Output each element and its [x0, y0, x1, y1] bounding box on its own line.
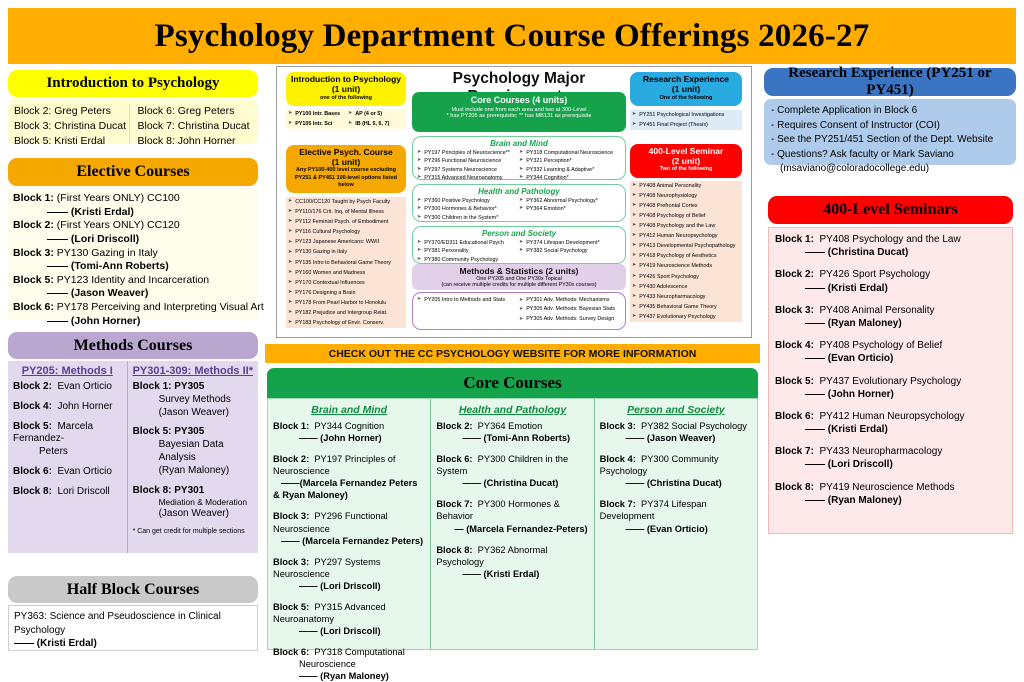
requirements-right-column: Research Experience (1 unit) One of the …: [630, 72, 742, 322]
instructor: —— (Lori Driscoll): [273, 625, 425, 637]
half-block-heading: Half Block Courses: [8, 576, 258, 603]
area-title: Person and Society: [417, 229, 621, 238]
bullet-arrow-icon: ➤: [417, 205, 421, 213]
block-label: Block 2:: [13, 381, 52, 392]
list-item: Block 7: Christina Ducat: [138, 119, 253, 134]
area-health-and-pathology: Health and Pathology ➤PY360 Positive Psy…: [412, 184, 626, 222]
list-item: ➤PY182 Prejudice and Intergroup Relat.: [286, 308, 406, 318]
page-title: Psychology Department Course Offerings 2…: [155, 18, 870, 55]
block-label: Block 5:: [13, 274, 54, 286]
course-name: PY408 Animal Personality: [819, 305, 934, 316]
instructor: —— (Jason Weaver): [13, 287, 253, 301]
list-item: ➤PY100 Intr. Bases: [286, 109, 346, 119]
box-note: Any PY100-400 level course excluding PY2…: [288, 167, 404, 188]
bullet-arrow-icon: ➤: [288, 309, 292, 317]
core-courses-heading: Core Courses: [267, 368, 758, 398]
instructor: —— (Lori Driscoll): [273, 580, 425, 592]
list-item: - Questions? Ask faculty or Mark Saviano: [771, 148, 1009, 163]
list-item: ➤PY408 Psychology of Belief: [630, 211, 742, 221]
list-item: Block 1: PY344 Cognition—— (John Horner): [273, 420, 425, 444]
course-name: PY363: Science and Pseudoscience in Clin…: [14, 610, 252, 637]
list-item: ➤PY360 Positive Psychology: [417, 197, 519, 205]
instructor: —— (Christina Ducat): [600, 477, 752, 489]
list-item: ➤IB (HL 5, 6, 7): [346, 119, 406, 129]
intro-column-left: Block 2: Greg Peters Block 3: Christina …: [14, 104, 129, 144]
block-label: Block 4:: [600, 454, 636, 464]
instructor: —— (Kristi Erdal): [436, 568, 588, 580]
list-item: ➤PY362 Abnormal Psychology*: [519, 197, 621, 205]
list-item: Block 4: PY408 Psychology of Belief—— (E…: [775, 339, 1006, 365]
list-item: ➤PY418 Psychology of Aesthetics: [630, 251, 742, 261]
bullet-arrow-icon: ➤: [519, 174, 523, 182]
bullet-arrow-icon: ➤: [632, 222, 636, 230]
list-item: ➤PY105 Intr. Sci: [286, 119, 346, 129]
list-item: Block 5: Marcela Fernandez-Peters: [13, 421, 122, 459]
instructor: —— (Kristi Erdal): [775, 282, 1006, 295]
box-units: (1 unit): [632, 85, 740, 95]
list-item: ➤PY130 Gazing in Italy: [286, 247, 406, 257]
bullet-arrow-icon: ➤: [417, 174, 421, 182]
list-item: ➤PY430 Adolescence: [630, 282, 742, 292]
list-item: ➤PY112 Feminist Psych. of Embodiment: [286, 217, 406, 227]
bullet-arrow-icon: ➤: [417, 157, 421, 165]
research-experience-body: - Complete Application in Block 6 - Requ…: [764, 99, 1016, 165]
bullet-arrow-icon: ➤: [632, 283, 636, 291]
bullet-arrow-icon: ➤: [632, 232, 636, 240]
methods-two-heading: PY301-309: Methods II*: [133, 365, 253, 377]
list-item: ➤PY419 Neuroscience Methods: [630, 261, 742, 271]
list-item: ➤PY116 Cultural Psychology: [286, 227, 406, 237]
research-requirement-box: Research Experience (1 unit) One of the …: [630, 72, 742, 106]
list-item: ➤PY435 Behavioral Game Theory: [630, 302, 742, 312]
bullet-arrow-icon: ➤: [519, 166, 523, 174]
area-person-and-society: Person and Society ➤PY370/ED311 Educatio…: [412, 226, 626, 264]
list-item: ➤PY123 Japanese Americans: WWII: [286, 237, 406, 247]
list-item: Block 1: PY305Survey Methods(Jason Weave…: [133, 381, 253, 419]
methods-panel-heading: Methods Courses: [8, 332, 258, 359]
block-label: Block 7:: [600, 499, 636, 509]
course-name: PY433 Neuropharmacology: [819, 446, 942, 457]
course-name: PY382 Social Psychology: [641, 421, 747, 431]
course-name: PY130 Gazing in Italy: [57, 247, 158, 259]
area-title: Brain and Mind: [417, 139, 621, 148]
half-block-body: PY363: Science and Pseudoscience in Clin…: [8, 605, 258, 651]
instructor: —— (Evan Orticio): [600, 523, 752, 535]
methods-footnote: * Can get credit for multiple sections: [133, 528, 253, 535]
box-note: Two of the following: [632, 166, 740, 173]
seminars-heading: 400-Level Seminars: [768, 196, 1013, 224]
list-item: ➤PY300 Children in the System*: [417, 214, 519, 222]
list-item: ➤AP (4 or 5): [346, 109, 406, 119]
course-name: PY364 Emotion: [478, 421, 543, 431]
bullet-arrow-icon: ➤: [632, 242, 636, 250]
block-label: Block 1:: [133, 381, 172, 392]
intro-requirement-options: ➤PY100 Intr. Bases ➤PY105 Intr. Sci ➤AP …: [286, 109, 406, 129]
block-label: Block 4:: [13, 401, 52, 412]
course-name: PY344 Cognition: [314, 421, 384, 431]
list-item: - Requires Consent of Instructor (COI): [771, 119, 1009, 134]
course-subtitle: Bayesian Data Analysis: [133, 439, 253, 465]
course-name: PY408 Psychology of Belief: [819, 340, 942, 351]
block-label: Block 6:: [13, 301, 54, 313]
block-label: Block 3:: [273, 511, 309, 521]
block-label: Block 8:: [133, 485, 172, 496]
methods-note-2: (can receive multiple credits for multip…: [412, 282, 626, 288]
elective-panel-body: Block 1: (First Years ONLY) CC100 —— (Kr…: [8, 188, 258, 319]
list-item: Block 2: PY426 Sport Psychology—— (Krist…: [775, 268, 1006, 294]
instructor: —— (Christina Ducat): [436, 477, 588, 489]
instructor: —— (Jason Weaver): [600, 432, 752, 444]
block-label: Block 1:: [775, 234, 814, 245]
bullet-arrow-icon: ➤: [519, 149, 523, 157]
bullet-arrow-icon: ➤: [632, 303, 636, 311]
list-item: ➤PY301 Adv. Methods: Mechanisms: [519, 296, 621, 305]
bullet-arrow-icon: ➤: [632, 192, 636, 200]
bullet-arrow-icon: ➤: [417, 149, 421, 157]
methods-courses-panel: Methods Courses PY205: Methods I Block 2…: [8, 332, 258, 553]
list-item: ➤PY251 Psychological Investigations: [630, 110, 742, 120]
half-block-courses-panel: Half Block Courses PY363: Science and Ps…: [8, 576, 258, 651]
list-item: Block 1: (First Years ONLY) CC100: [13, 192, 253, 206]
intro-requirement-box: Introduction to Psychology (1 unit) one …: [286, 72, 406, 106]
list-item: ➤PY178 From Pearl Harbor to Honolulu: [286, 298, 406, 308]
methods-units-label: Methods & Statistics (2 units): [412, 266, 626, 276]
instructor-cont: Peters: [13, 446, 122, 459]
bullet-arrow-icon: ➤: [632, 293, 636, 301]
instructor: Evan Orticio: [57, 466, 111, 477]
block-label: Block 6:: [775, 411, 814, 422]
area-title: Health and Pathology: [417, 187, 621, 196]
bullet-arrow-icon: ➤: [519, 197, 523, 205]
bullet-arrow-icon: ➤: [417, 197, 421, 205]
bullet-arrow-icon: ➤: [632, 202, 636, 210]
list-item: ➤PY305 Adv. Methods: Survey Design: [519, 315, 621, 324]
instructor: —— (Christina Ducat): [775, 246, 1006, 259]
list-item: ➤PY433 Neuropharmacology: [630, 292, 742, 302]
bullet-arrow-icon: ➤: [288, 299, 292, 307]
bullet-arrow-icon: ➤: [288, 239, 292, 247]
list-item: Block 2: (First Years ONLY) CC120: [13, 219, 253, 233]
list-item: Block 2: PY197 Principles of Neuroscienc…: [273, 453, 425, 501]
course-name: PY178 Perceiving and Interpreting Visual…: [57, 301, 264, 313]
list-item: Block 5: Kristi Erdal: [14, 134, 129, 149]
research-experience-panel: Research Experience (PY251 or PY451) - C…: [764, 68, 1016, 165]
seminars-body: Block 1: PY408 Psychology and the Law—— …: [768, 227, 1013, 534]
bullet-arrow-icon: ➤: [417, 166, 421, 174]
instructor: —— (John Horner): [13, 315, 253, 329]
list-item: - See the PY251/451 Section of the Dept.…: [771, 133, 1009, 148]
block-label: Block 3:: [13, 247, 54, 259]
research-requirement-options: ➤PY251 Psychological Investigations ➤PY4…: [630, 110, 742, 130]
column-heading: Health and Pathology: [436, 404, 588, 416]
intro-column-right: Block 6: Greg Peters Block 7: Christina …: [129, 104, 253, 144]
box-note: One of the following: [632, 95, 740, 102]
list-item: Block 3: Christina Ducat: [14, 119, 129, 134]
bullet-arrow-icon: ➤: [348, 120, 352, 128]
block-label: Block 1:: [273, 421, 309, 431]
block-label: Block 7:: [436, 499, 472, 509]
list-item: Block 2: Evan Orticio: [13, 381, 122, 394]
intro-options-right: ➤AP (4 or 5) ➤IB (HL 5, 6, 7): [346, 109, 406, 129]
instructor: — (Marcela Fernandez-Peters): [436, 523, 588, 535]
course-name: PY318 Computational: [314, 647, 404, 657]
bullet-arrow-icon: ➤: [519, 296, 523, 305]
list-item: Block 3: PY408 Animal Personality—— (Rya…: [775, 304, 1006, 330]
list-item: ➤PY300 Hormones & Behavior*: [417, 205, 519, 213]
list-item: ➤PY451 Final Project (Thesis): [630, 120, 742, 130]
block-label: Block 2:: [273, 454, 309, 464]
list-item: Block 5: PY437 Evolutionary Psychology——…: [775, 375, 1006, 401]
list-item: ➤PY170 Contextual Influences: [286, 278, 406, 288]
bullet-arrow-icon: ➤: [519, 305, 523, 314]
instructor: —— (Kristi Erdal): [13, 206, 253, 220]
list-item: ➤PY176 Designing a Brain: [286, 288, 406, 298]
list-item: ➤PY110/176 Crit. Inq. of Mental Illness: [286, 207, 406, 217]
seminars-panel: 400-Level Seminars Block 1: PY408 Psycho…: [768, 196, 1013, 534]
methods-panel-body: PY205: Methods I Block 2: Evan Orticio B…: [8, 361, 258, 553]
block-label: Block 5:: [133, 426, 172, 437]
column-heading: Brain and Mind: [273, 404, 425, 416]
list-item: Block 5: PY305Bayesian Data Analysis(Rya…: [133, 426, 253, 477]
research-experience-heading: Research Experience (PY251 or PY451): [764, 68, 1016, 96]
course-name: PY305: [174, 381, 204, 392]
bullet-arrow-icon: ➤: [519, 205, 523, 213]
list-item: ➤PY344 Cognition*: [519, 174, 621, 182]
bullet-arrow-icon: ➤: [632, 273, 636, 281]
block-label: Block 8:: [775, 482, 814, 493]
list-item: ➤PY318 Computational Neuroscience: [519, 149, 621, 157]
bullet-arrow-icon: ➤: [288, 279, 292, 287]
list-item: Block 6: PY412 Human Neuropsychology—— (…: [775, 410, 1006, 436]
course-name: PY123 Identity and Incarceration: [57, 274, 209, 286]
instructor: —— (Evan Orticio): [775, 352, 1006, 365]
list-item: Block 7: PY374 Lifespan Development—— (E…: [600, 498, 752, 534]
bullet-arrow-icon: ➤: [632, 182, 636, 190]
instructor: —— (Lori Driscoll): [775, 458, 1006, 471]
bullet-arrow-icon: ➤: [288, 249, 292, 257]
column-heading: Person and Society: [600, 404, 752, 416]
course-name: (First Years ONLY) CC100: [57, 192, 180, 204]
block-label: Block 6:: [273, 647, 309, 657]
elective-panel-heading: Elective Courses: [8, 158, 258, 186]
intro-options-left: ➤PY100 Intr. Bases ➤PY105 Intr. Sci: [286, 109, 346, 129]
website-banner[interactable]: CHECK OUT THE CC PSYCHOLOGY WEBSITE FOR …: [265, 344, 760, 363]
instructor: —— (John Horner): [775, 388, 1006, 401]
block-label: Block 7:: [775, 446, 814, 457]
instructor: —— (Tomi-Ann Roberts): [436, 432, 588, 444]
list-item: ➤PY413 Developmental Psychopathology: [630, 241, 742, 251]
bullet-arrow-icon: ➤: [632, 212, 636, 220]
bullet-arrow-icon: ➤: [288, 259, 292, 267]
contact-email[interactable]: (msaviano@coloradocollege.edu): [771, 162, 1009, 177]
elective-courses-panel: Elective Courses Block 1: (First Years O…: [8, 158, 258, 319]
bullet-arrow-icon: ➤: [632, 121, 636, 129]
elective-requirement-options: ➤CC100/CC120 Taught by Psych Faculty ➤PY…: [286, 197, 406, 328]
block-label: Block 3:: [600, 421, 636, 431]
instructor: John Horner: [57, 401, 112, 412]
core-column-brain-and-mind: Brain and Mind Block 1: PY344 Cognition—…: [268, 399, 430, 649]
block-label: Block 2:: [13, 219, 54, 231]
block-label: Block 1:: [13, 192, 54, 204]
bullet-arrow-icon: ➤: [519, 239, 523, 247]
course-name: PY426 Sport Psychology: [819, 269, 930, 280]
bullet-arrow-icon: ➤: [288, 218, 292, 226]
list-item: Block 1: PY408 Psychology and the Law—— …: [775, 233, 1006, 259]
bullet-arrow-icon: ➤: [288, 319, 292, 327]
list-item: Block 4: John Horner: [13, 401, 122, 414]
list-item: ➤CC100/CC120 Taught by Psych Faculty: [286, 197, 406, 207]
area-brain-and-mind: Brain and Mind ➤PY197 Principles of Neur…: [412, 136, 626, 180]
instructor: —— (Ryan Maloney): [775, 317, 1006, 330]
core-note-2: * has PY205 as prerequisite; ** has MB13…: [412, 113, 626, 119]
list-item: ➤PY408 Psychology and the Law: [630, 221, 742, 231]
block-label: Block 4:: [775, 340, 814, 351]
methods-one-heading: PY205: Methods I: [13, 365, 122, 377]
bullet-arrow-icon: ➤: [519, 157, 523, 165]
block-label: Block 6:: [13, 466, 52, 477]
elective-requirement-box: Elective Psych. Course (1 unit) Any PY10…: [286, 145, 406, 193]
methods-stats-options: ➤PY205 Intro to Methods and Stats ➤PY301…: [412, 292, 626, 330]
core-requirement-header: Core Courses (4 units) Must include one …: [412, 92, 626, 132]
bullet-arrow-icon: ➤: [417, 296, 421, 304]
instructor-cont: & Ryan Maloney): [273, 489, 425, 501]
course-name: PY408 Psychology and the Law: [819, 234, 960, 245]
course-name: PY301: [174, 485, 204, 496]
course-subtitle: Mediation & Moderation: [133, 497, 253, 508]
list-item: Block 8: PY301Mediation & Moderation(Jas…: [133, 485, 253, 521]
methods-stats-header: Methods & Statistics (2 units) One PY205…: [412, 264, 626, 290]
instructor: Evan Orticio: [57, 381, 111, 392]
intro-panel-body: Block 2: Greg Peters Block 3: Christina …: [8, 99, 258, 144]
course-name: PY419 Neuroscience Methods: [819, 482, 954, 493]
list-item: Block 7: PY433 Neuropharmacology—— (Lori…: [775, 445, 1006, 471]
block-label: Block 6:: [436, 454, 472, 464]
list-item: Block 5: PY123 Identity and Incarceratio…: [13, 274, 253, 288]
intro-to-psychology-panel: Introduction to Psychology Block 2: Greg…: [8, 70, 258, 144]
instructor: —— (John Horner): [273, 432, 425, 444]
instructor: —— (Marcela Fernandez Peters): [273, 535, 425, 547]
bullet-arrow-icon: ➤: [632, 313, 636, 321]
instructor: —— (Ryan Maloney): [273, 670, 425, 682]
methods-two-column: PY301-309: Methods II* Block 1: PY305Sur…: [127, 361, 258, 553]
course-name: PY437 Evolutionary Psychology: [819, 376, 961, 387]
list-item: ➤PY412 Human Neuropsychology: [630, 231, 742, 241]
bullet-arrow-icon: ➤: [348, 110, 352, 118]
core-courses-columns: Brain and Mind Block 1: PY344 Cognition—…: [267, 398, 758, 650]
list-item: ➤PY305 Adv. Methods: Bayesian Stats: [519, 305, 621, 314]
list-item: ➤PY381 Personality: [417, 247, 519, 255]
list-item: ➤PY297 Systems Neuroscience: [417, 166, 519, 174]
list-item: ➤PY160 Women and Madness: [286, 268, 406, 278]
instructor: (Ryan Maloney): [133, 465, 253, 478]
requirements-left-column: Introduction to Psychology (1 unit) one …: [286, 72, 406, 328]
core-column-person-and-society: Person and Society Block 3: PY382 Social…: [594, 399, 757, 649]
list-item: Block 2: Greg Peters: [14, 104, 129, 119]
list-item: Block 8: PY362 Abnormal Psychology—— (Kr…: [436, 544, 588, 580]
bullet-arrow-icon: ➤: [519, 247, 523, 255]
list-item: ➤PY408 Neurophysiology: [630, 191, 742, 201]
bullet-arrow-icon: ➤: [417, 256, 421, 264]
list-item: Block 4: PY300 Community Psychology—— (C…: [600, 453, 752, 489]
list-item: ➤PY296 Functional Neuroscience: [417, 157, 519, 165]
block-label: Block 3:: [775, 305, 814, 316]
list-item: ➤PY370/ED311 Educational Psych: [417, 239, 519, 247]
list-item: Block 6: PY318 ComputationalNeuroscience…: [273, 646, 425, 682]
core-courses-panel: Core Courses Brain and Mind Block 1: PY3…: [267, 368, 758, 650]
list-item: Block 8: PY419 Neuroscience Methods—— (R…: [775, 481, 1006, 507]
list-item: ➤PY380 Community Psychology: [417, 256, 519, 264]
list-item: ➤PY205 Intro to Methods and Stats: [417, 296, 519, 304]
methods-one-column: PY205: Methods I Block 2: Evan Orticio B…: [8, 361, 127, 553]
instructor: —— (Lori Driscoll): [13, 233, 253, 247]
list-item: Block 5: PY315 Advanced Neuroanatomy—— (…: [273, 601, 425, 637]
list-item: Block 3: PY296 Functional Neuroscience——…: [273, 510, 425, 546]
instructor: —— (Kristi Erdal): [775, 423, 1006, 436]
block-label: Block 2:: [436, 421, 472, 431]
block-label: Block 5:: [775, 376, 814, 387]
course-name: (First Years ONLY) CC120: [57, 219, 180, 231]
bullet-arrow-icon: ➤: [288, 110, 292, 118]
core-units-label: Core Courses (4 units): [412, 95, 626, 105]
list-item: Block 3: PY130 Gazing in Italy: [13, 247, 253, 261]
block-label: Block 8:: [13, 486, 52, 497]
block-label: Block 3:: [273, 557, 309, 567]
list-item: ➤PY374 Lifespan Development*: [519, 239, 621, 247]
list-item: Block 6: PY300 Children in the System—— …: [436, 453, 588, 489]
list-item: ➤PY183 Psychology of Envir. Conserv.: [286, 318, 406, 328]
list-item: ➤PY315 Advanced Neuroanatomy: [417, 174, 519, 182]
instructor: —— (Tomi-Ann Roberts): [13, 260, 253, 274]
bullet-arrow-icon: ➤: [288, 289, 292, 297]
instructor: —— (Kristi Erdal): [14, 637, 252, 651]
bullet-arrow-icon: ➤: [632, 262, 636, 270]
bullet-arrow-icon: ➤: [632, 252, 636, 260]
bullet-arrow-icon: ➤: [417, 247, 421, 255]
list-item: ➤PY364 Emotion*: [519, 205, 621, 213]
bullet-arrow-icon: ➤: [288, 198, 292, 206]
list-item: Block 8: John Horner: [138, 134, 253, 149]
poster-title-bar: Psychology Department Course Offerings 2…: [8, 8, 1016, 64]
list-item: Block 6: PY178 Perceiving and Interpreti…: [13, 301, 253, 315]
bullet-arrow-icon: ➤: [288, 269, 292, 277]
list-item: ➤PY408 Prefrontal Cortex: [630, 201, 742, 211]
list-item: Block 7: PY300 Hormones & Behavior— (Mar…: [436, 498, 588, 534]
core-column-health-and-pathology: Health and Pathology Block 2: PY364 Emot…: [430, 399, 593, 649]
box-units: (1 unit): [288, 85, 404, 95]
bullet-arrow-icon: ➤: [288, 208, 292, 216]
list-item: ➤PY437 Evolutionary Psychology: [630, 312, 742, 322]
instructor: (Jason Weaver): [133, 407, 253, 420]
box-units: (2 unit): [632, 157, 740, 167]
list-item: ➤PY197 Principles of Neuroscience**: [417, 149, 519, 157]
seminar-requirement-box: 400-Level Seminar (2 unit) Two of the fo…: [630, 144, 742, 178]
block-label: Block 5:: [273, 602, 309, 612]
block-label: Block 2:: [775, 269, 814, 280]
course-name-cont: Neuroscience: [273, 658, 425, 670]
bullet-arrow-icon: ➤: [417, 239, 421, 247]
list-item: ➤PY321 Perception*: [519, 157, 621, 165]
list-item: - Complete Application in Block 6: [771, 104, 1009, 119]
list-item: Block 6: Greg Peters: [138, 104, 253, 119]
list-item: ➤PY135 Intro to Behavioral Game Theory: [286, 258, 406, 268]
list-item: Block 3: PY297 Systems Neuroscience—— (L…: [273, 556, 425, 592]
bullet-arrow-icon: ➤: [519, 315, 523, 324]
list-item: Block 3: PY382 Social Psychology—— (Jaso…: [600, 420, 752, 444]
list-item: ➤PY332 Learning & Adaptive*: [519, 166, 621, 174]
box-units: (1 unit): [288, 158, 404, 168]
list-item: ➤PY426 Sport Psychology: [630, 272, 742, 282]
bullet-arrow-icon: ➤: [417, 214, 421, 222]
